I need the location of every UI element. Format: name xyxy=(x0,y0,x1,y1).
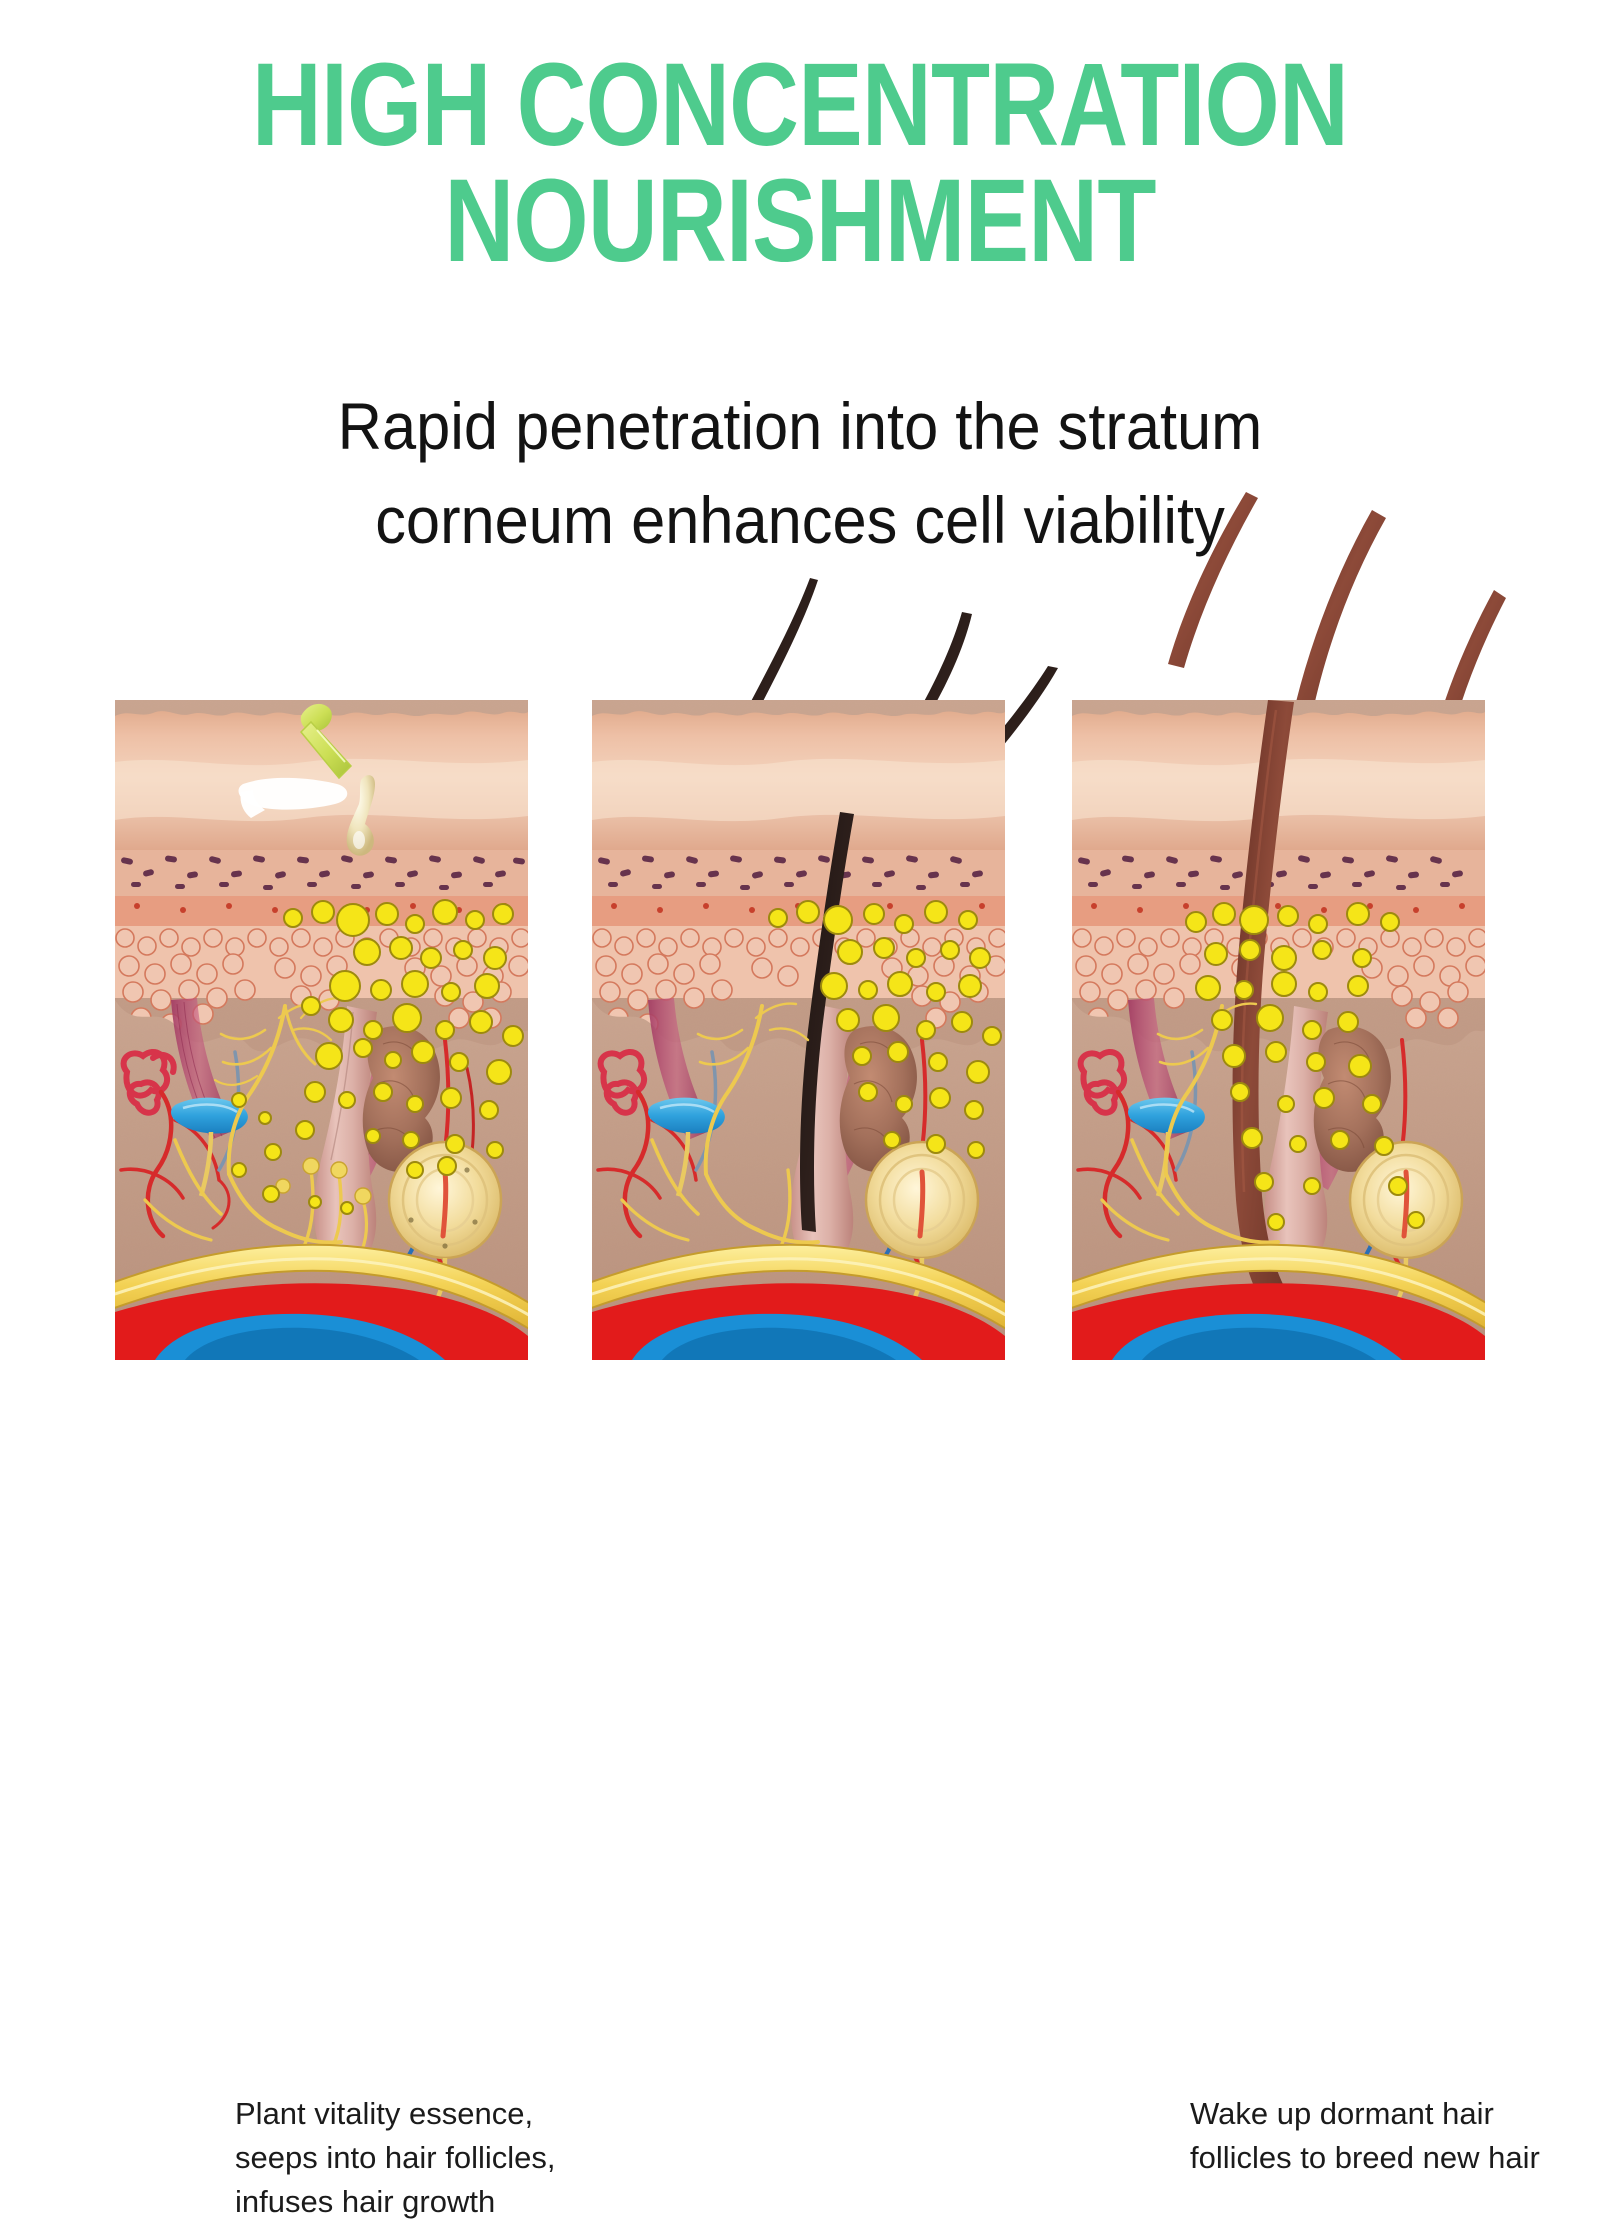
panel-2: Wake up dormant hair follicles to breed … xyxy=(592,700,1005,1360)
skin-cross-section-diagram-3 xyxy=(1072,700,1485,1360)
skin-cross-section-diagram-2 xyxy=(592,700,1005,1360)
promo-graphic-page: HIGH CONCENTRATION NOURISHMENT Rapid pen… xyxy=(0,0,1600,1600)
panel-1-caption-line-2: seeps into hair follicles, xyxy=(235,2136,655,2180)
panel-2-caption: Wake up dormant hair follicles to breed … xyxy=(1190,2092,1600,2180)
panel-1-illustration xyxy=(115,700,528,1360)
illustration-panel-row: Plant vitality essence, seeps into hair … xyxy=(0,0,1600,1600)
panel-3-illustration xyxy=(1072,700,1485,1360)
skin-cross-section-diagram-1 xyxy=(115,700,528,1360)
panel-1-caption-line-3: infuses hair growth xyxy=(235,2180,655,2224)
panel-2-illustration xyxy=(592,700,1005,1360)
panel-3: Adhere to the application, so that the n… xyxy=(1072,700,1485,1360)
panel-1: Plant vitality essence, seeps into hair … xyxy=(115,700,528,1360)
panel-1-caption: Plant vitality essence, seeps into hair … xyxy=(235,2092,655,2224)
panel-2-caption-line-2: follicles to breed new hair xyxy=(1190,2136,1600,2180)
panel-1-caption-line-1: Plant vitality essence, xyxy=(235,2092,655,2136)
panel-2-caption-line-1: Wake up dormant hair xyxy=(1190,2092,1600,2136)
